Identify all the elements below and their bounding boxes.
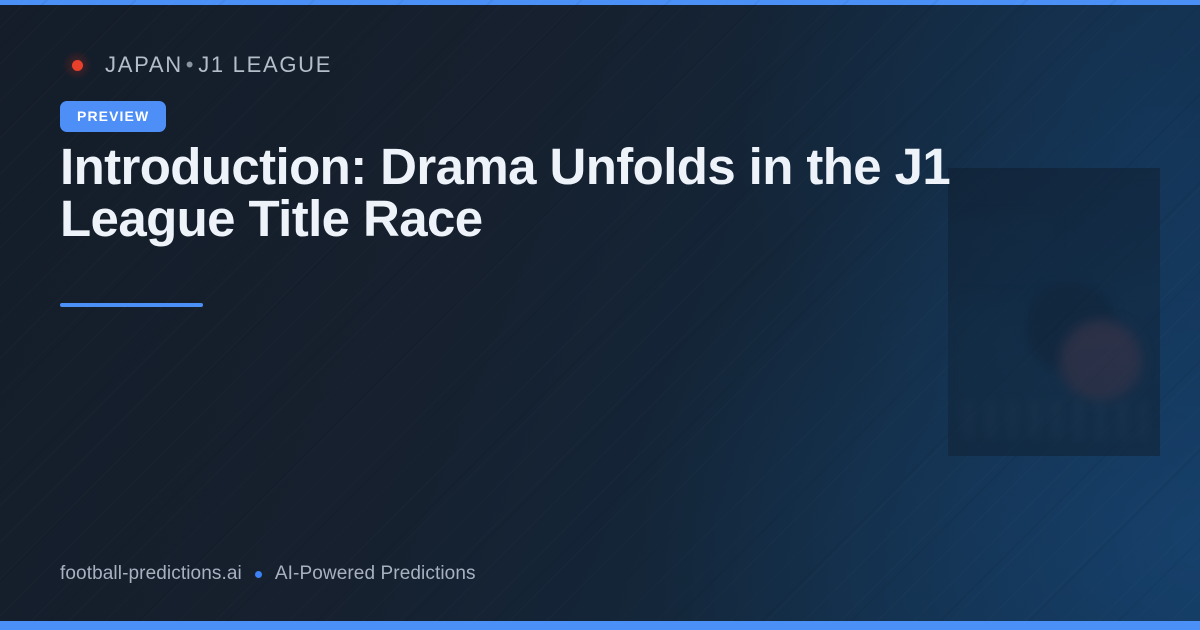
card-content: JAPAN•J1 LEAGUE PREVIEW Introduction: Dr… [60, 0, 1140, 630]
status-badge: PREVIEW [60, 101, 166, 132]
blue-dot-icon [255, 571, 262, 578]
breadcrumb-text: JAPAN•J1 LEAGUE [105, 52, 332, 78]
japan-flag-icon [60, 48, 94, 82]
japan-flag-sun [72, 60, 83, 71]
breadcrumb-country: JAPAN [105, 52, 183, 77]
breadcrumb: JAPAN•J1 LEAGUE [60, 48, 332, 82]
bottom-accent-bar [0, 621, 1200, 630]
breadcrumb-competition: J1 LEAGUE [198, 52, 332, 77]
footer-tagline: AI-Powered Predictions [275, 563, 476, 585]
card-footer: football-predictions.ai AI-Powered Predi… [60, 563, 476, 585]
social-preview-card: JAPAN•J1 LEAGUE PREVIEW Introduction: Dr… [0, 0, 1200, 630]
site-name: football-predictions.ai [60, 563, 242, 585]
breadcrumb-separator: • [183, 52, 198, 77]
title-accent-rule [60, 303, 203, 307]
page-title: Introduction: Drama Unfolds in the J1 Le… [60, 141, 1050, 245]
